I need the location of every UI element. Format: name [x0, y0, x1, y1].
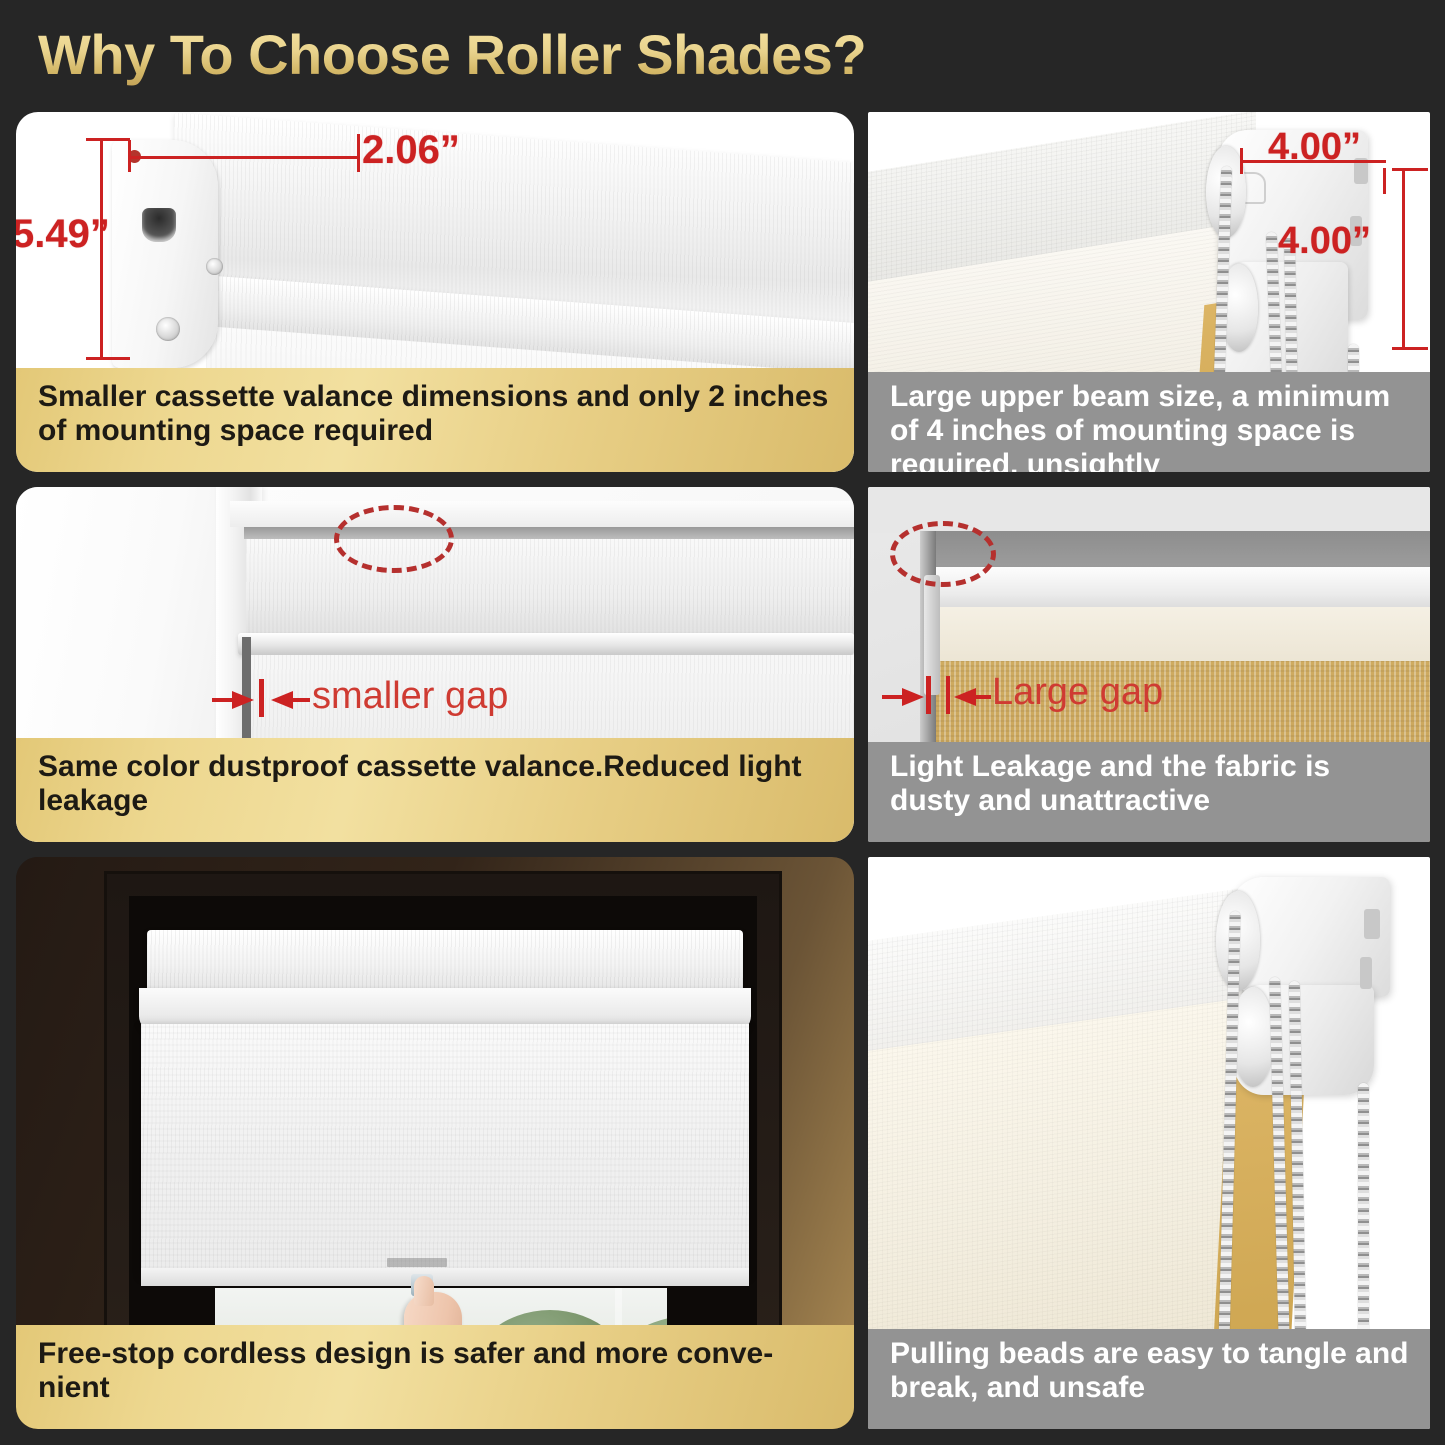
width-dimension-tick — [1240, 148, 1243, 174]
width-dimension-line — [128, 156, 360, 159]
bead-chain[interactable] — [1358, 1083, 1369, 1347]
brand-mark — [387, 1258, 447, 1267]
panel-large-upper-beam: 4.00” 4.00” Large upper beam size, a min… — [868, 112, 1430, 472]
gap-arrow-tail-right — [975, 695, 991, 699]
bracket-notch — [1360, 957, 1372, 989]
roller-shade-fabric — [141, 1024, 749, 1274]
height-dimension-label: 4.00” — [1278, 220, 1371, 263]
width-dimension-label: 4.00” — [1268, 126, 1361, 169]
gap-marker-bar — [946, 676, 950, 714]
gap-arrow-right-icon — [902, 688, 924, 706]
height-dimension-line — [1402, 168, 1405, 350]
gap-arrow-right-icon — [232, 691, 254, 709]
caption-large-upper-beam: Large upper beam size, a minimum of 4 in… — [868, 372, 1430, 472]
gap-arrow-tail-left — [212, 698, 234, 702]
beam-dark-top — [928, 531, 1430, 571]
valance-slot — [142, 208, 176, 242]
width-dimension-tick — [1383, 168, 1386, 194]
panel-free-stop-cordless-window: Free-stop cordless design is safer and m… — [16, 857, 854, 1429]
width-dimension-label: 2.06” — [362, 128, 460, 173]
shade-fabric-upper — [246, 539, 854, 635]
gap-marker-bar — [259, 679, 264, 717]
height-dimension-tick — [1392, 168, 1428, 171]
width-dimension-tick — [357, 134, 360, 172]
height-dimension-tick — [1392, 347, 1428, 350]
infographic-page: Why To Choose Roller Shades? 2.06” 5.49”… — [0, 0, 1445, 1445]
gap-arrow-left-icon — [954, 688, 976, 706]
gap-marker-bar — [926, 676, 931, 714]
valance-screw — [206, 258, 223, 275]
gap-arrow-tail-left — [882, 695, 904, 699]
beam-cream-band — [928, 607, 1430, 663]
height-dimension-tick — [86, 138, 130, 141]
caption-pulling-beads-tangle: Pulling beads are easy to tangle and bre… — [868, 1329, 1430, 1429]
caption-cassette-valance-dimensions: Smaller cassette valance dimensions and … — [16, 368, 854, 472]
panel-dustproof-cassette-valance: smaller gap Same color dustproof cassett… — [16, 487, 854, 842]
gap-highlight-ellipse — [890, 521, 996, 587]
beam-white-roller — [924, 567, 1430, 611]
shade-bottom-rail — [141, 1268, 749, 1286]
window-header-trim — [230, 501, 854, 527]
caption-dustproof-cassette-valance: Same color dustproof cassette valance.Re… — [16, 738, 854, 842]
caption-free-stop-cordless-window: Free-stop cordless design is safer and m… — [16, 1325, 854, 1429]
cassette-valance — [147, 930, 743, 994]
small-gap-label: smaller gap — [312, 675, 508, 718]
gap-arrow-left-icon — [271, 691, 293, 709]
height-dimension-tick — [86, 357, 130, 360]
shade-fabric-cream — [868, 995, 1262, 1384]
shade-middle-rail — [238, 633, 854, 655]
page-title: Why To Choose Roller Shades? — [38, 22, 866, 87]
height-dimension-label: 5.49” — [16, 212, 110, 257]
bracket-notch — [1364, 909, 1380, 939]
panel-light-leakage-dusty-fabric: Large gap Light Leakage and the fabric i… — [868, 487, 1430, 842]
gap-highlight-ellipse — [334, 505, 454, 573]
large-gap-label: Large gap — [992, 671, 1163, 714]
valance-screw — [156, 317, 180, 341]
panel-cassette-valance-dimensions: 2.06” 5.49” Smaller cassette valance dim… — [16, 112, 854, 472]
caption-light-leakage-dusty-fabric: Light Leakage and the fabric is dusty an… — [868, 742, 1430, 842]
gap-arrow-tail-right — [292, 698, 310, 702]
width-dimension-tick — [128, 140, 131, 172]
panel-pulling-beads-tangle: Pulling beads are easy to tangle and bre… — [868, 857, 1430, 1429]
